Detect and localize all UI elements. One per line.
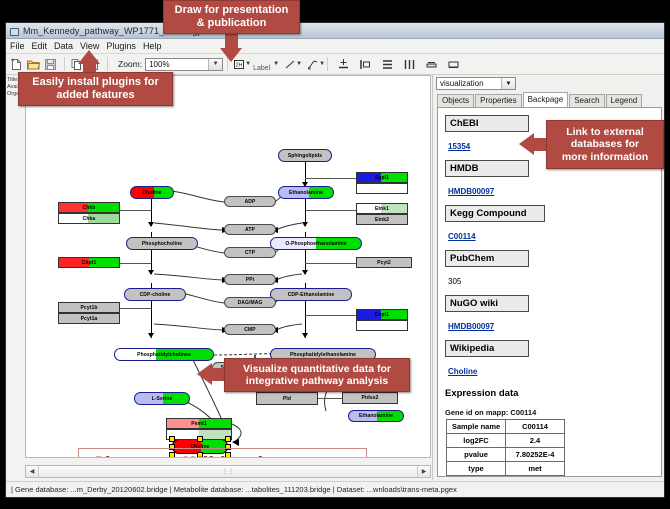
node-pemt1[interactable]: Pemt1 (166, 418, 232, 429)
node-label: Cept1 (375, 312, 389, 318)
visualize-callout: Visualize quantitative data forintegrati… (224, 358, 410, 392)
node-label: Pcyt2 (377, 260, 391, 266)
db-header-hmdb: HMDB (445, 160, 529, 177)
node-label: Pld (283, 396, 291, 402)
toolbar-separator-2 (107, 57, 108, 71)
pathway-canvas[interactable]: Sphingolipids Choline Ethanolamine Phosp… (25, 75, 431, 458)
align-left-icon[interactable] (358, 57, 373, 72)
node-pcyt2[interactable]: Pcyt2 (356, 257, 412, 268)
node-label: Phosphocholine (142, 241, 182, 247)
node-sphingolipids[interactable]: Sphingolipids (278, 149, 332, 162)
node-label: Chpt1 (82, 260, 97, 266)
draw-callout-arrow-head (220, 48, 242, 62)
node-ptdss2[interactable]: Ptdss2 (342, 392, 398, 404)
chevron-down-icon[interactable]: ▼ (273, 61, 279, 67)
node-label: DAG/MAG (238, 300, 263, 306)
node-label: Pcyt1a (81, 316, 98, 322)
db-link-hmdb[interactable]: HMDB00097 (448, 187, 494, 196)
scroll-right-arrow[interactable]: ▶ (418, 466, 430, 477)
label-tool-text: Label (253, 65, 270, 72)
node-label: Chka (83, 216, 96, 222)
node-cdp-ethanolamine[interactable]: CDP-Ethanolamine (270, 288, 352, 301)
node-label: CTP (245, 250, 255, 256)
node-cept1-bottom[interactable] (356, 320, 408, 331)
node-ctp[interactable]: CTP (224, 247, 276, 258)
node-o-phosphoethanolamine[interactable]: O-Phosphoethanolamine (270, 237, 362, 250)
node-cept1[interactable]: Cept1 (356, 309, 408, 320)
selection-handle[interactable] (169, 436, 175, 442)
pathway-info-strip: Title: Availa Organi (6, 75, 24, 458)
status-bar: | Gene database: ...m_Derby_20120602.bri… (6, 481, 664, 497)
node-l-serine-left[interactable]: L-Serine (134, 392, 190, 405)
canvas-hscrollbar[interactable]: ◀ ⋮⋮ ▶ (25, 465, 431, 478)
table-cell-key: type (447, 462, 506, 476)
node-label: Pemt1 (191, 421, 207, 427)
share-banner: Share on Wikipathways.org (78, 448, 367, 458)
edge-cept1 (305, 315, 358, 316)
chevron-down-icon[interactable]: ▼ (501, 78, 515, 89)
db-header-wikipedia: Wikipedia (445, 340, 529, 357)
zoom-combobox[interactable]: 100% ▼ (145, 58, 223, 71)
visualization-select[interactable]: visualization ▼ (436, 77, 516, 90)
tab-search[interactable]: Search (569, 94, 604, 107)
visualize-callout-text: Visualize quantitative data forintegrati… (243, 363, 391, 387)
gene-id-line: Gene id on mapp: C00114 (445, 408, 661, 417)
node-pcyt1b[interactable]: Pcyt1b (58, 302, 120, 313)
db-link-kegg[interactable]: C00114 (448, 232, 476, 241)
edge-chpt1 (120, 263, 151, 264)
tab-legend[interactable]: Legend (606, 94, 643, 107)
db-link-wikipedia[interactable]: Choline (448, 367, 477, 376)
interaction-tool[interactable]: ▼ (306, 57, 321, 72)
table-cell-key: pvalue (447, 448, 506, 462)
chevron-down-icon[interactable]: ▼ (296, 61, 302, 67)
node-chka[interactable]: Chka (58, 213, 120, 224)
status-text: | Gene database: ...m_Derby_20120602.bri… (6, 485, 457, 494)
edge-sgpl1 (305, 178, 358, 179)
table-cell-key: Sample name (447, 420, 506, 434)
scroll-left-arrow[interactable]: ◀ (26, 466, 38, 477)
node-label: CMP (244, 327, 255, 333)
plugins-callout-text: Easily install plugins foradded features (32, 76, 159, 101)
link-callout: Link to externaldatabases formore inform… (546, 120, 664, 169)
node-ethanolamine-top[interactable]: Ethanolamine (278, 186, 334, 199)
align-rows-icon[interactable] (380, 57, 395, 72)
title-bar: Mm_Kennedy_pathway_WP1771_45176.gpml (6, 23, 664, 39)
visualization-value: visualization (437, 79, 501, 88)
node-label: O-Phosphoethanolamine (285, 241, 346, 247)
node-label: CDP-choline (140, 292, 171, 298)
svg-text:2H: 2H (236, 62, 243, 68)
node-label: Phosphatidylcholines (137, 352, 191, 358)
node-label: Pcyt1b (81, 305, 98, 311)
table-cell-key: log2FC (447, 434, 506, 448)
node-phosphatidylcholines[interactable]: Phosphatidylcholines (114, 348, 214, 361)
edge-chk-choline (120, 210, 151, 211)
save-icon[interactable] (43, 57, 58, 72)
node-cdp-choline[interactable]: CDP-choline (124, 288, 186, 301)
plugins-callout: Easily install plugins foradded features (18, 72, 173, 106)
zoom-value: 100% (146, 60, 208, 69)
table-cell-value: 7.80252E-4 (506, 448, 565, 462)
stack-icon[interactable] (446, 57, 461, 72)
node-phosphocholine[interactable]: Phosphocholine (126, 237, 198, 250)
pathway-pane: Title: Availa Organi (6, 75, 433, 480)
node-etnk1[interactable]: Etnk1 (356, 203, 408, 214)
node-label: Ethanolamine (289, 190, 323, 196)
table-row: pvalue 7.80252E-4 (447, 448, 565, 462)
expression-table: Sample name C00114 log2FC 2.4 pvalue 7.8… (446, 419, 565, 476)
draw-callout: Draw for presentation& publication (163, 0, 300, 34)
plugins-callout-arrow-head (78, 50, 100, 64)
node-atp[interactable]: ATP (224, 224, 276, 235)
node-chpt1[interactable]: Chpt1 (58, 257, 120, 268)
draw-callout-text: Draw for presentation& publication (175, 4, 289, 29)
node-label: CDP-Ethanolamine (288, 292, 335, 298)
node-etnk2[interactable]: Etnk2 (356, 214, 408, 225)
table-cell-value: 2.4 (506, 434, 565, 448)
node-sgpl1-bottom[interactable] (356, 183, 408, 194)
common-width-icon[interactable] (424, 57, 439, 72)
node-label: L-Serine (152, 396, 173, 402)
node-label: Choline (142, 190, 161, 196)
selection-handle[interactable] (197, 436, 203, 442)
node-label: Etnk1 (375, 206, 389, 212)
scroll-thumb[interactable]: ⋮⋮ (38, 466, 418, 477)
node-label: Sgpl1 (375, 175, 389, 181)
node-label: Chkb (83, 205, 96, 211)
db-header-chebi: ChEBI (445, 115, 529, 132)
menu-item-help[interactable]: Help (143, 41, 162, 51)
menu-item-data[interactable]: Data (54, 41, 73, 51)
link-callout-arrow-head (519, 133, 534, 155)
db-header-kegg: Kegg Compound (445, 205, 545, 222)
align-top-icon[interactable] (336, 57, 351, 72)
toolbar-separator-1 (64, 57, 65, 71)
db-link-chebi[interactable]: 15354 (448, 142, 470, 151)
toolbar-separator-4 (327, 57, 328, 71)
table-cell-value: met (506, 462, 565, 476)
line-tool[interactable]: ▼ (283, 57, 298, 72)
node-pld[interactable]: Pld (256, 392, 318, 405)
db-header-pubchem: PubChem (445, 250, 529, 267)
tab-objects[interactable]: Objects (437, 94, 474, 107)
table-row: log2FC 2.4 (447, 434, 565, 448)
menu-item-file[interactable]: File (10, 41, 25, 51)
node-label: Ptdss2 (362, 395, 379, 401)
node-chkb[interactable]: Chkb (58, 202, 120, 213)
edge-pld-ptdss2 (318, 398, 344, 399)
node-label: ADP (245, 199, 256, 205)
node-dag-mag[interactable]: DAG/MAG (224, 297, 276, 308)
node-ppi[interactable]: PPi (224, 274, 276, 285)
node-pcyt1a[interactable]: Pcyt1a (58, 313, 120, 324)
node-label: ATP (245, 227, 255, 233)
edge-pcyt2 (305, 263, 358, 264)
node-sgpl1[interactable]: Sgpl1 (356, 172, 408, 183)
menu-item-edit[interactable]: Edit (32, 41, 48, 51)
node-label: PPi (246, 277, 254, 283)
side-panel-tabs: Objects Properties Backpage Search Legen… (437, 94, 662, 108)
edge-pcyt1 (120, 308, 151, 309)
table-row: type met (447, 462, 565, 476)
node-label: Etnk2 (375, 217, 389, 223)
tab-properties[interactable]: Properties (475, 94, 521, 107)
node-ethanolamine-bottom[interactable]: Ethanolamine (348, 410, 404, 422)
open-folder-icon[interactable] (26, 57, 41, 72)
new-file-icon[interactable] (9, 57, 24, 72)
chevron-down-icon[interactable]: ▼ (245, 61, 251, 67)
chevron-down-icon[interactable]: ▼ (319, 61, 325, 67)
distribute-icon[interactable] (402, 57, 417, 72)
db-link-nugo[interactable]: HMDB00097 (448, 322, 494, 331)
table-cell-value: C00114 (506, 420, 565, 434)
selection-handle[interactable] (225, 436, 231, 442)
pathvisio-icon (9, 26, 19, 36)
visualize-callout-arrow-head (197, 363, 212, 385)
db-header-nugo: NuGO wiki (445, 295, 529, 312)
tab-backpage[interactable]: Backpage (523, 92, 569, 108)
table-row: Sample name C00114 (447, 420, 565, 434)
node-label: Sphingolipids (288, 153, 322, 159)
link-callout-text: Link to externaldatabases formore inform… (562, 126, 648, 162)
node-adp[interactable]: ADP (224, 196, 276, 207)
menu-bar: File Edit Data View Plugins Help (6, 39, 664, 54)
expression-data-header: Expression data (445, 388, 661, 399)
node-label: Phosphatidylethanolamine (290, 352, 356, 358)
menu-item-plugins[interactable]: Plugins (106, 41, 136, 51)
label-tool[interactable]: Label ▼ (253, 57, 275, 72)
node-choline-top[interactable]: Choline (130, 186, 174, 199)
edge-etnk (305, 210, 358, 211)
node-cmp[interactable]: CMP (224, 324, 276, 335)
db-value-pubchem: 305 (448, 277, 461, 286)
zoom-label: Zoom: (118, 59, 142, 69)
node-label: Ethanolamine (359, 413, 393, 419)
